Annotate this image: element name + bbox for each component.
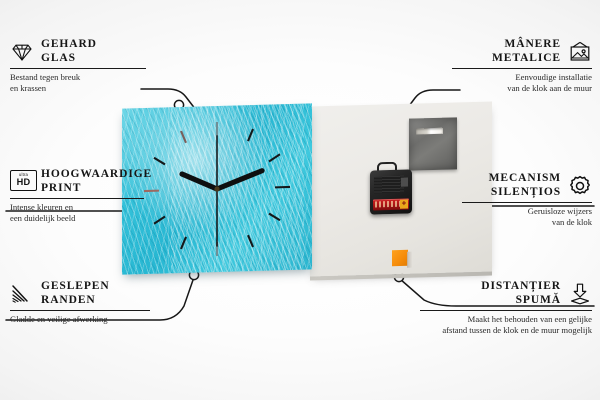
movement-grill [374, 176, 404, 194]
battery-label [375, 201, 400, 208]
feature-spacer-description: Maakt het behouden van een gelijke afsta… [420, 314, 592, 335]
divider [462, 202, 592, 203]
feature-glass-title: GEHARD GLAS [41, 38, 97, 65]
feature-edges: GESLEPEN RANDEN Gladde en veilige afwerk… [10, 280, 150, 325]
feature-print-description: Intense kleuren en een duidelijk beeld [10, 202, 144, 223]
feature-edges-title: GESLEPEN RANDEN [41, 280, 110, 307]
feature-mechanism-description: Geruisloze wijzers van de klok [462, 206, 592, 227]
feature-handles: MÂNERE METALICE Eenvoudige installatie v… [452, 38, 592, 93]
divider [452, 68, 592, 69]
feature-mechanism: MECANISM SILENȚIOS Geruisloze wijzers va… [462, 172, 592, 227]
divider [10, 310, 150, 311]
gear-icon [568, 174, 592, 198]
feature-edges-description: Gladde en veilige afwerking [10, 314, 150, 325]
picture-hanger-icon [568, 40, 592, 64]
feature-glass: GEHARD GLAS Bestand tegen breuk en krass… [10, 38, 146, 93]
movement-chip [401, 178, 408, 187]
ultra-hd-icon: ultra HD [10, 170, 34, 194]
feature-print-title: HOOGWAARDIGE PRINT [41, 168, 152, 195]
feature-mechanism-title: MECANISM SILENȚIOS [489, 172, 561, 199]
metal-hanger-plate [409, 117, 457, 170]
feature-handles-description: Eenvoudige installatie van de klok aan d… [452, 72, 592, 93]
feature-spacer-title: DISTANȚIER SPUMĂ [481, 280, 561, 307]
ultra-hd-icon-main-label: HD [17, 178, 31, 187]
hour-hand [217, 171, 262, 189]
feature-glass-description: Bestand tegen breuk en krassen [10, 72, 146, 93]
hanger-slot [416, 128, 443, 135]
foam-spacer-icon [568, 282, 592, 306]
divider [10, 68, 146, 69]
product-infographic: + [0, 0, 600, 400]
diamond-icon [10, 40, 34, 64]
battery: + [373, 198, 409, 210]
orange-foam-spacer [392, 250, 408, 266]
feature-print: ultra HD HOOGWAARDIGE PRINT Intense kleu… [10, 168, 144, 223]
minute-hand [182, 173, 217, 190]
divider [420, 310, 592, 311]
polished-edges-icon [10, 282, 34, 306]
divider [10, 198, 144, 199]
feature-spacer: DISTANȚIER SPUMĂ Maakt het behouden van … [420, 280, 592, 335]
feature-handles-title: MÂNERE METALICE [492, 38, 561, 65]
quartz-movement-box: + [370, 169, 412, 214]
battery-plus-label: + [400, 200, 408, 209]
